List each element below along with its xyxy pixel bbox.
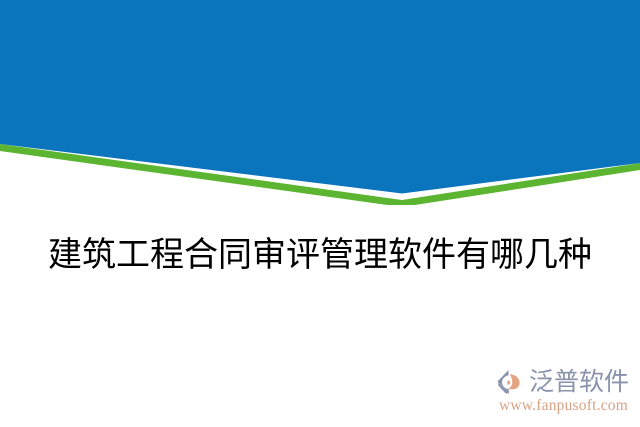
blue-chevron-shape [0,0,640,194]
slide-canvas: 建筑工程合同审评管理软件有哪几种 泛普软件 www.fanpusoft.com [0,0,640,427]
brand-logo: 泛普软件 www.fanpusoft.com [496,365,636,421]
blue-chevron-banner [0,0,640,205]
page-title-text: 建筑工程合同审评管理软件有哪几种 [48,237,592,274]
green-accent-stripe [0,144,640,205]
page-title: 建筑工程合同审评管理软件有哪几种 [0,228,640,284]
brand-name: 泛普软件 [529,370,629,395]
fanpu-swirl-logo-icon [496,368,526,396]
brand-logo-row: 泛普软件 [496,365,629,399]
brand-url: www.fanpusoft.com [499,398,628,414]
